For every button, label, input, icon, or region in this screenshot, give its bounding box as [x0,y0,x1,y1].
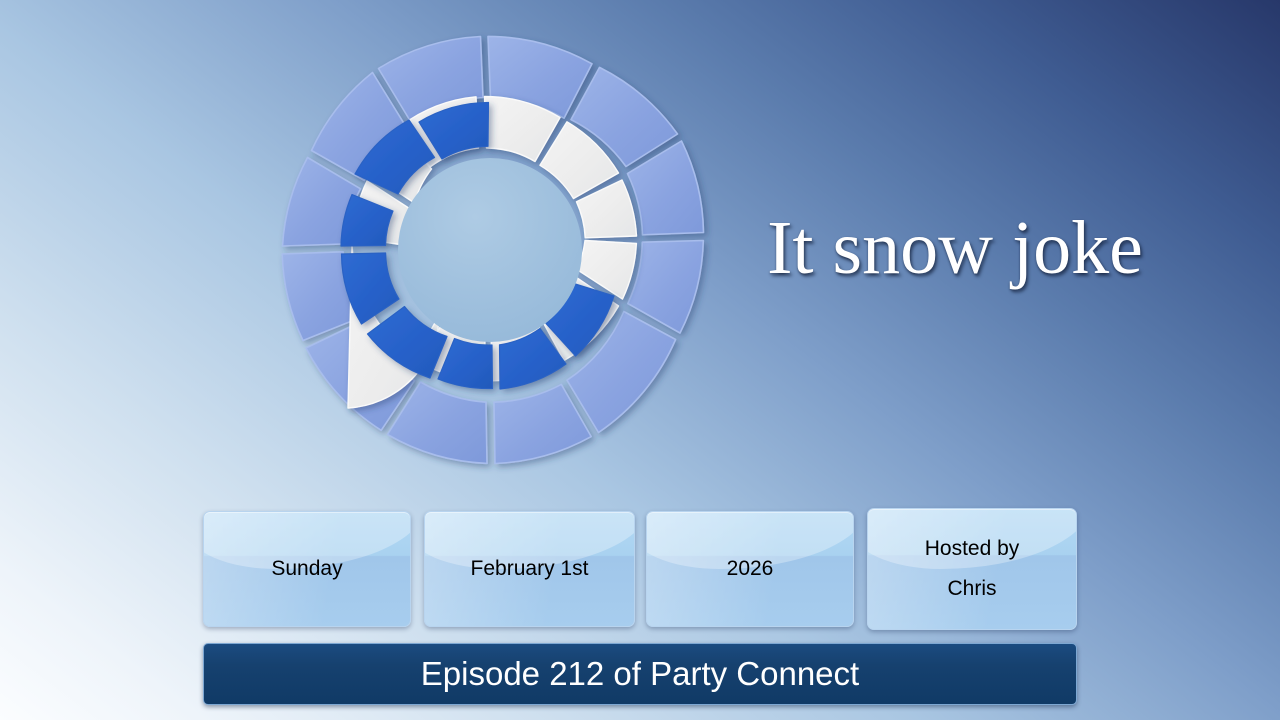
episode-banner[interactable]: Episode 212 of Party Connect [203,643,1077,705]
episode-banner-label: Episode 212 of Party Connect [421,654,859,694]
fact-box-host-line-1: Hosted by [925,529,1020,569]
fact-box-date-line-1: February 1st [471,549,589,589]
fact-box-row: Sunday February 1st 2026 Hosted by Chris [203,508,1077,630]
fact-box-weekday[interactable]: Sunday [203,511,411,627]
page-title: It snow joke [755,198,1155,298]
fact-box-year[interactable]: 2026 [646,511,854,627]
fact-box-date[interactable]: February 1st [424,511,635,627]
fact-box-host-line-2: Chris [947,569,996,609]
slide-canvas: It snow joke Sunday February 1st 2026 Ho… [0,0,1280,720]
segmented-donut-graphic [215,18,765,486]
donut-center-hub [398,158,582,342]
fact-box-year-line-1: 2026 [727,549,774,589]
fact-box-weekday-line-1: Sunday [271,549,342,589]
fact-box-host[interactable]: Hosted by Chris [867,508,1077,630]
